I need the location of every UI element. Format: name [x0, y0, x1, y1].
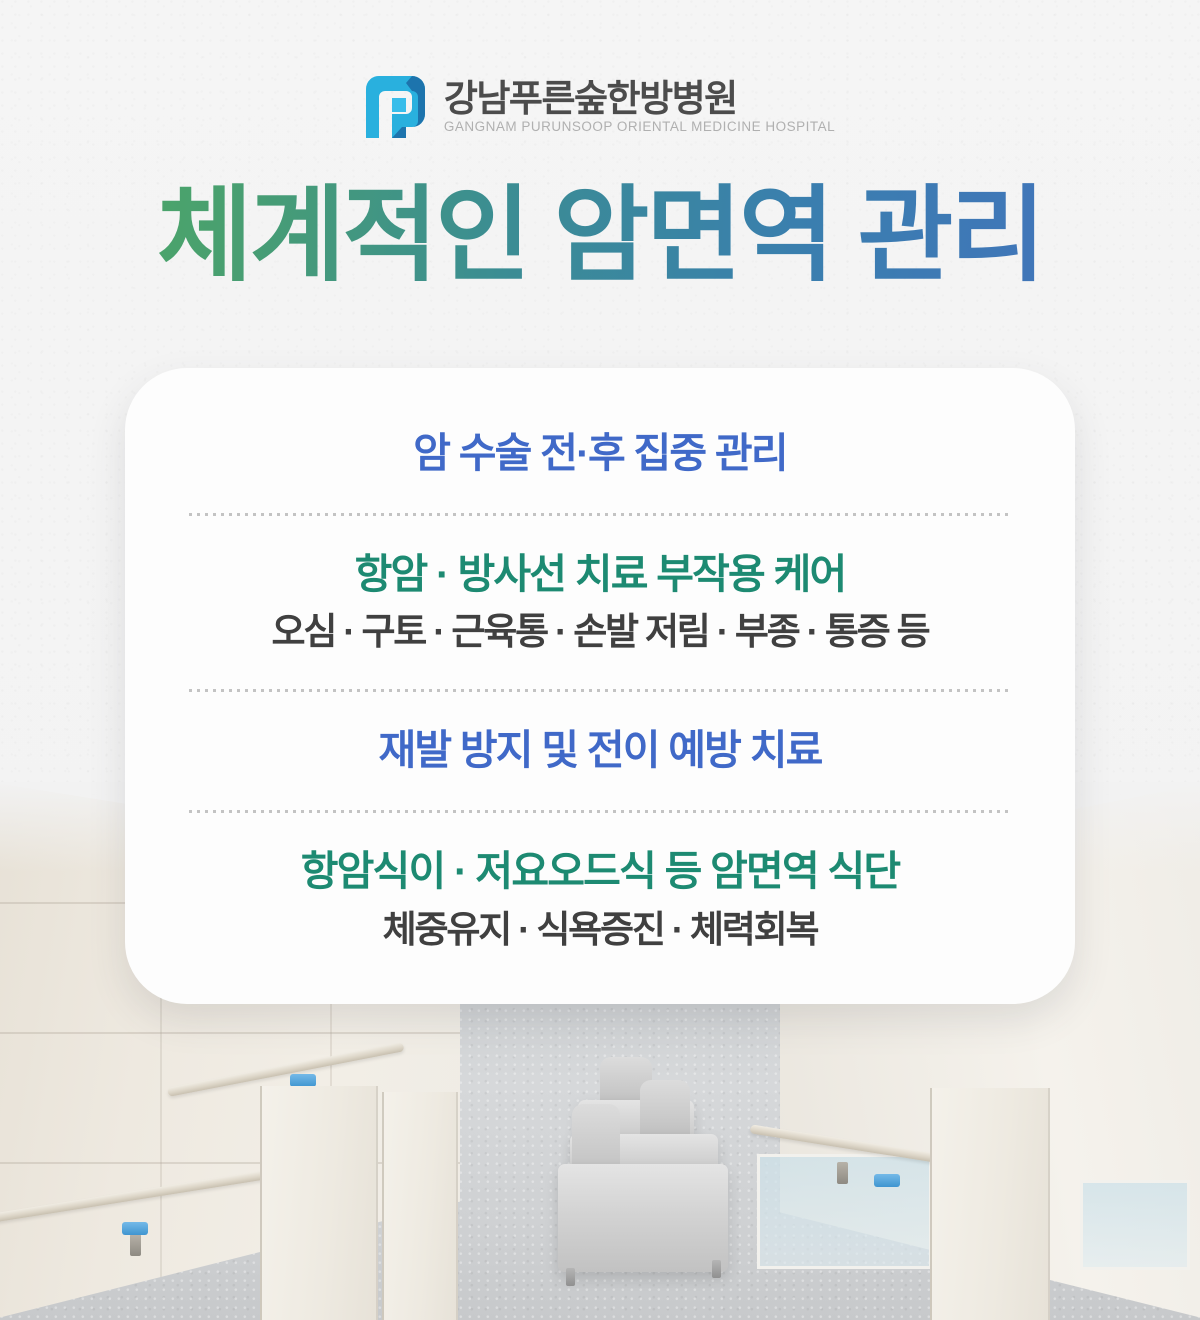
right-far-glass-panel: [1080, 1180, 1190, 1270]
bench-leg-left: [566, 1268, 575, 1286]
bench-leg-right: [712, 1260, 721, 1278]
service-subtitle-4: 체중유지 · 식욕증진 · 체력회복: [175, 906, 1025, 954]
corridor-door-right: [930, 1088, 1050, 1320]
corridor-door-left-2: [382, 1092, 458, 1320]
section-divider-2: [189, 689, 1011, 692]
service-section-1: 암 수술 전·후 집중 관리: [175, 414, 1025, 480]
logo-wordmark: 강남푸른숲한방병원 GANGNAM PURUNSOOP ORIENTAL MED…: [444, 80, 835, 134]
service-title-1: 암 수술 전·후 집중 관리: [175, 426, 1025, 480]
bench-backrest-mid: [640, 1080, 690, 1142]
section-divider-1: [189, 513, 1011, 516]
service-section-2: 항암 · 방사선 치료 부작용 케어 오심 · 구토 · 근육통 · 손발 저림…: [175, 547, 1025, 656]
logo-english-name: GANGNAM PURUNSOOP ORIENTAL MEDICINE HOSP…: [444, 120, 835, 134]
corridor-door-left: [260, 1086, 378, 1320]
left-handrail-blue-marker: [122, 1222, 148, 1235]
service-list-card: 암 수술 전·후 집중 관리 항암 · 방사선 치료 부작용 케어 오심 · 구…: [125, 368, 1075, 1004]
purunsoop-p-logomark-icon: [365, 74, 427, 140]
logo-korean-name: 강남푸른숲한방병원: [444, 80, 835, 117]
left-handrail-bracket: [130, 1234, 141, 1256]
service-title-3: 재발 방지 및 전이 예방 치료: [175, 723, 1025, 777]
page-title: 체계적인 암면역 관리: [0, 178, 1200, 294]
hospital-logo: 강남푸른숲한방병원 GANGNAM PURUNSOOP ORIENTAL MED…: [0, 74, 1200, 140]
section-divider-3: [189, 810, 1011, 813]
right-handrail-bracket: [837, 1162, 848, 1184]
service-title-4: 항암식이 · 저요오드식 등 암면역 식단: [175, 844, 1025, 898]
service-title-2: 항암 · 방사선 치료 부작용 케어: [175, 547, 1025, 601]
poster-canvas: 강남푸른숲한방병원 GANGNAM PURUNSOOP ORIENTAL MED…: [0, 0, 1200, 1320]
bench-seat-near: [558, 1164, 728, 1272]
service-section-4: 항암식이 · 저요오드식 등 암면역 식단 체중유지 · 식욕증진 · 체력회복: [175, 844, 1025, 959]
service-section-3: 재발 방지 및 전이 예방 치료: [175, 723, 1025, 777]
service-subtitle-2: 오심 · 구토 · 근육통 · 손발 저림 · 부종 · 통증 등: [175, 608, 1025, 656]
right-handrail-blue-marker: [874, 1174, 900, 1187]
